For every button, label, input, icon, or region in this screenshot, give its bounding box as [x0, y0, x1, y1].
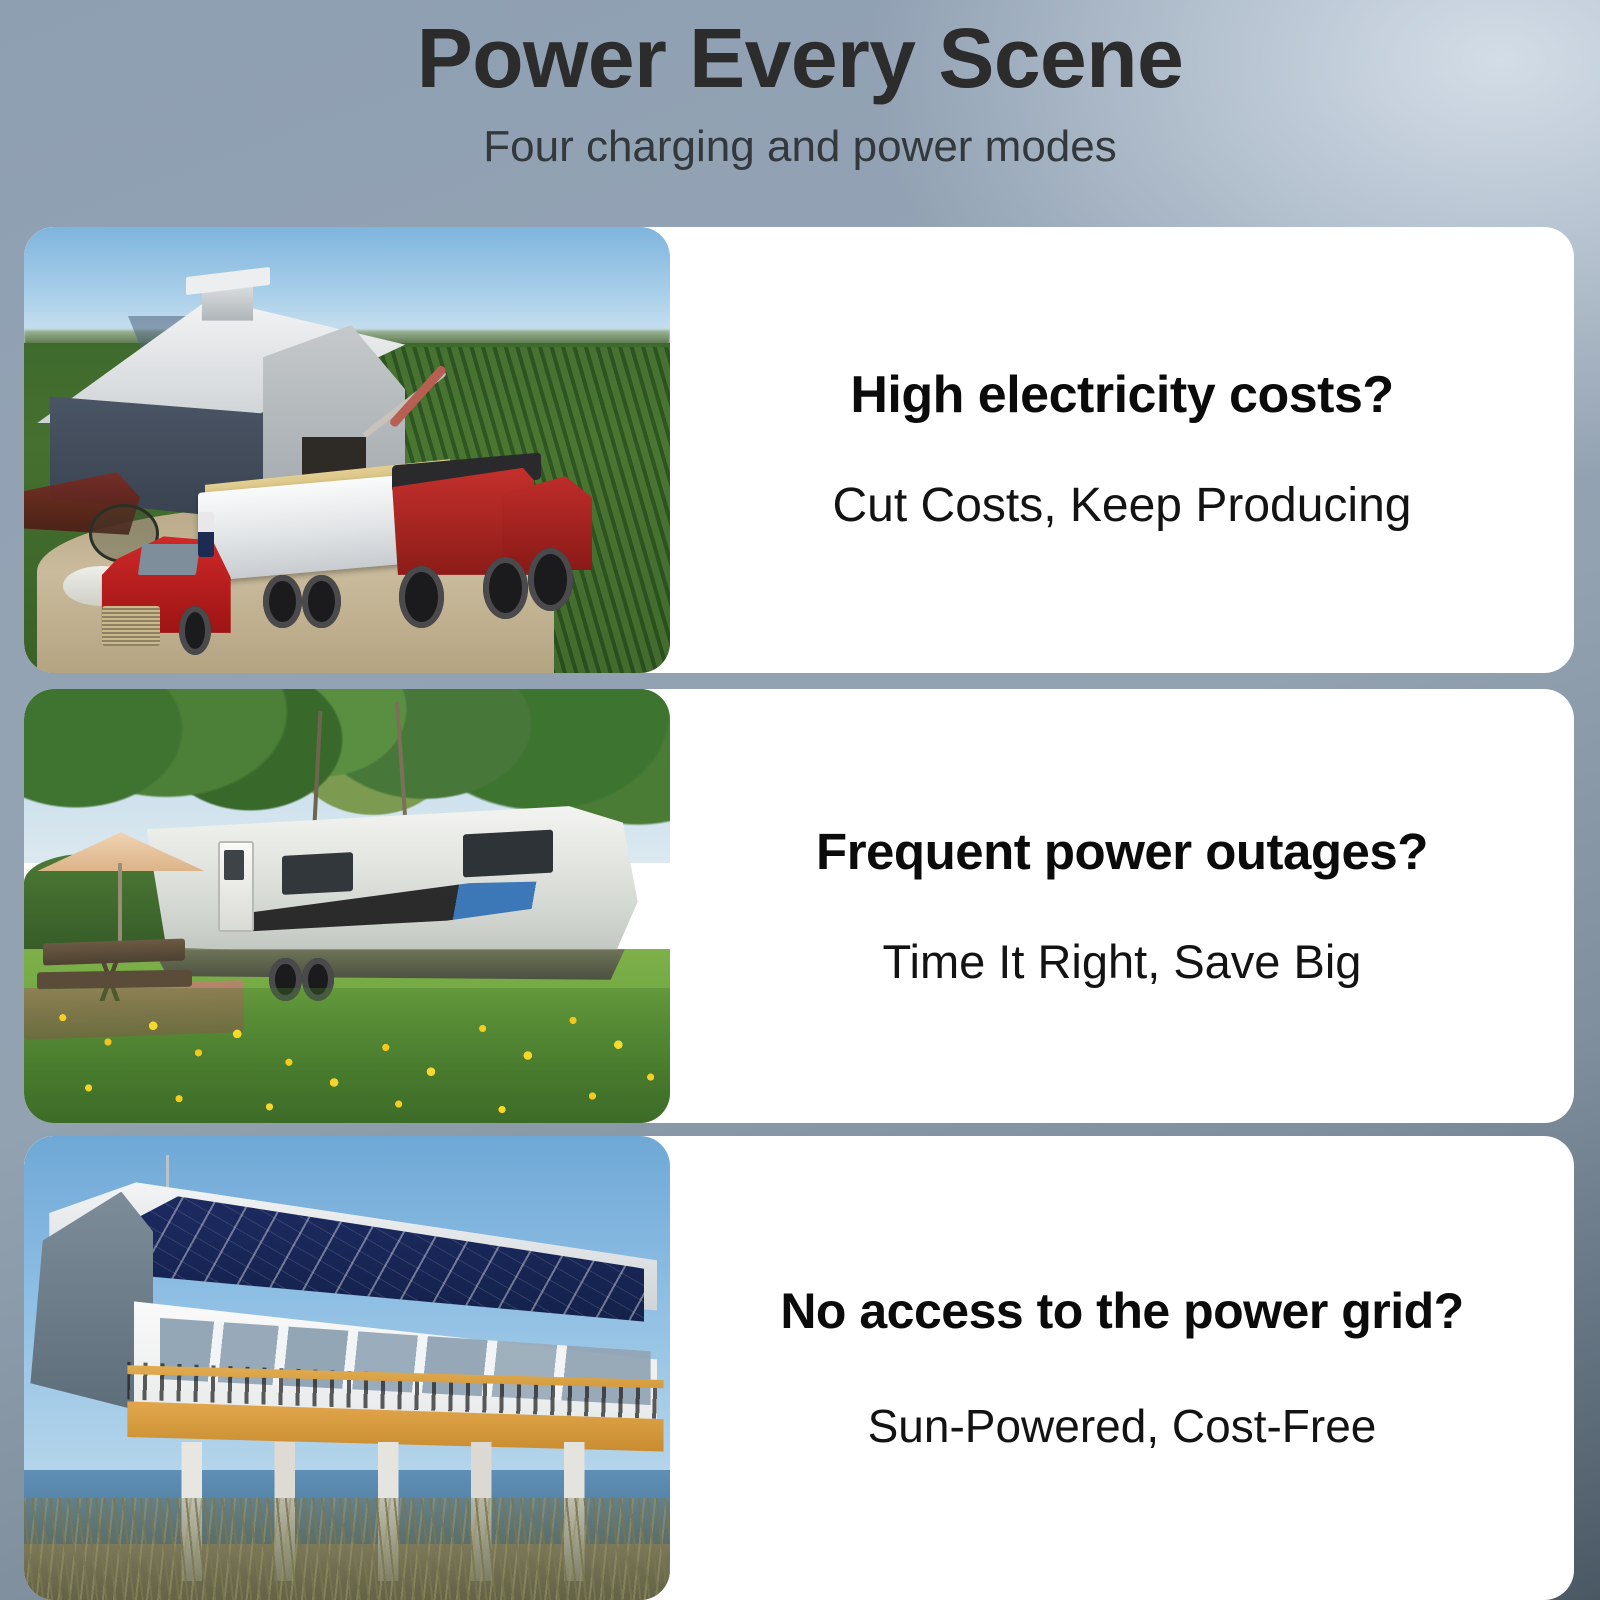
- feature-card-3[interactable]: No access to the power grid? Sun-Powered…: [24, 1136, 1574, 1600]
- promo-banner: Power Every Scene Four charging and powe…: [0, 0, 1600, 1600]
- farm-barn-photo: [24, 227, 670, 673]
- card-3-text: No access to the power grid? Sun-Powered…: [670, 1136, 1574, 1600]
- card-3-subtext: Sun-Powered, Cost-Free: [868, 1401, 1377, 1452]
- card-2-text: Frequent power outages? Time It Right, S…: [670, 689, 1574, 1123]
- solar-beach-house-photo: [24, 1136, 670, 1600]
- rv-trailer-photo: [24, 689, 670, 1123]
- card-1-subtext: Cut Costs, Keep Producing: [833, 480, 1412, 533]
- card-3-heading: No access to the power grid?: [780, 1284, 1463, 1339]
- card-2-subtext: Time It Right, Save Big: [883, 936, 1362, 988]
- card-2-heading: Frequent power outages?: [816, 824, 1428, 880]
- page-subtitle: Four charging and power modes: [0, 102, 1600, 170]
- header: Power Every Scene Four charging and powe…: [0, 0, 1600, 170]
- card-1-heading: High electricity costs?: [850, 367, 1393, 424]
- page-title: Power Every Scene: [0, 0, 1600, 102]
- card-1-text: High electricity costs? Cut Costs, Keep …: [670, 227, 1574, 673]
- feature-card-1[interactable]: High electricity costs? Cut Costs, Keep …: [24, 227, 1574, 673]
- feature-card-2[interactable]: Frequent power outages? Time It Right, S…: [24, 689, 1574, 1123]
